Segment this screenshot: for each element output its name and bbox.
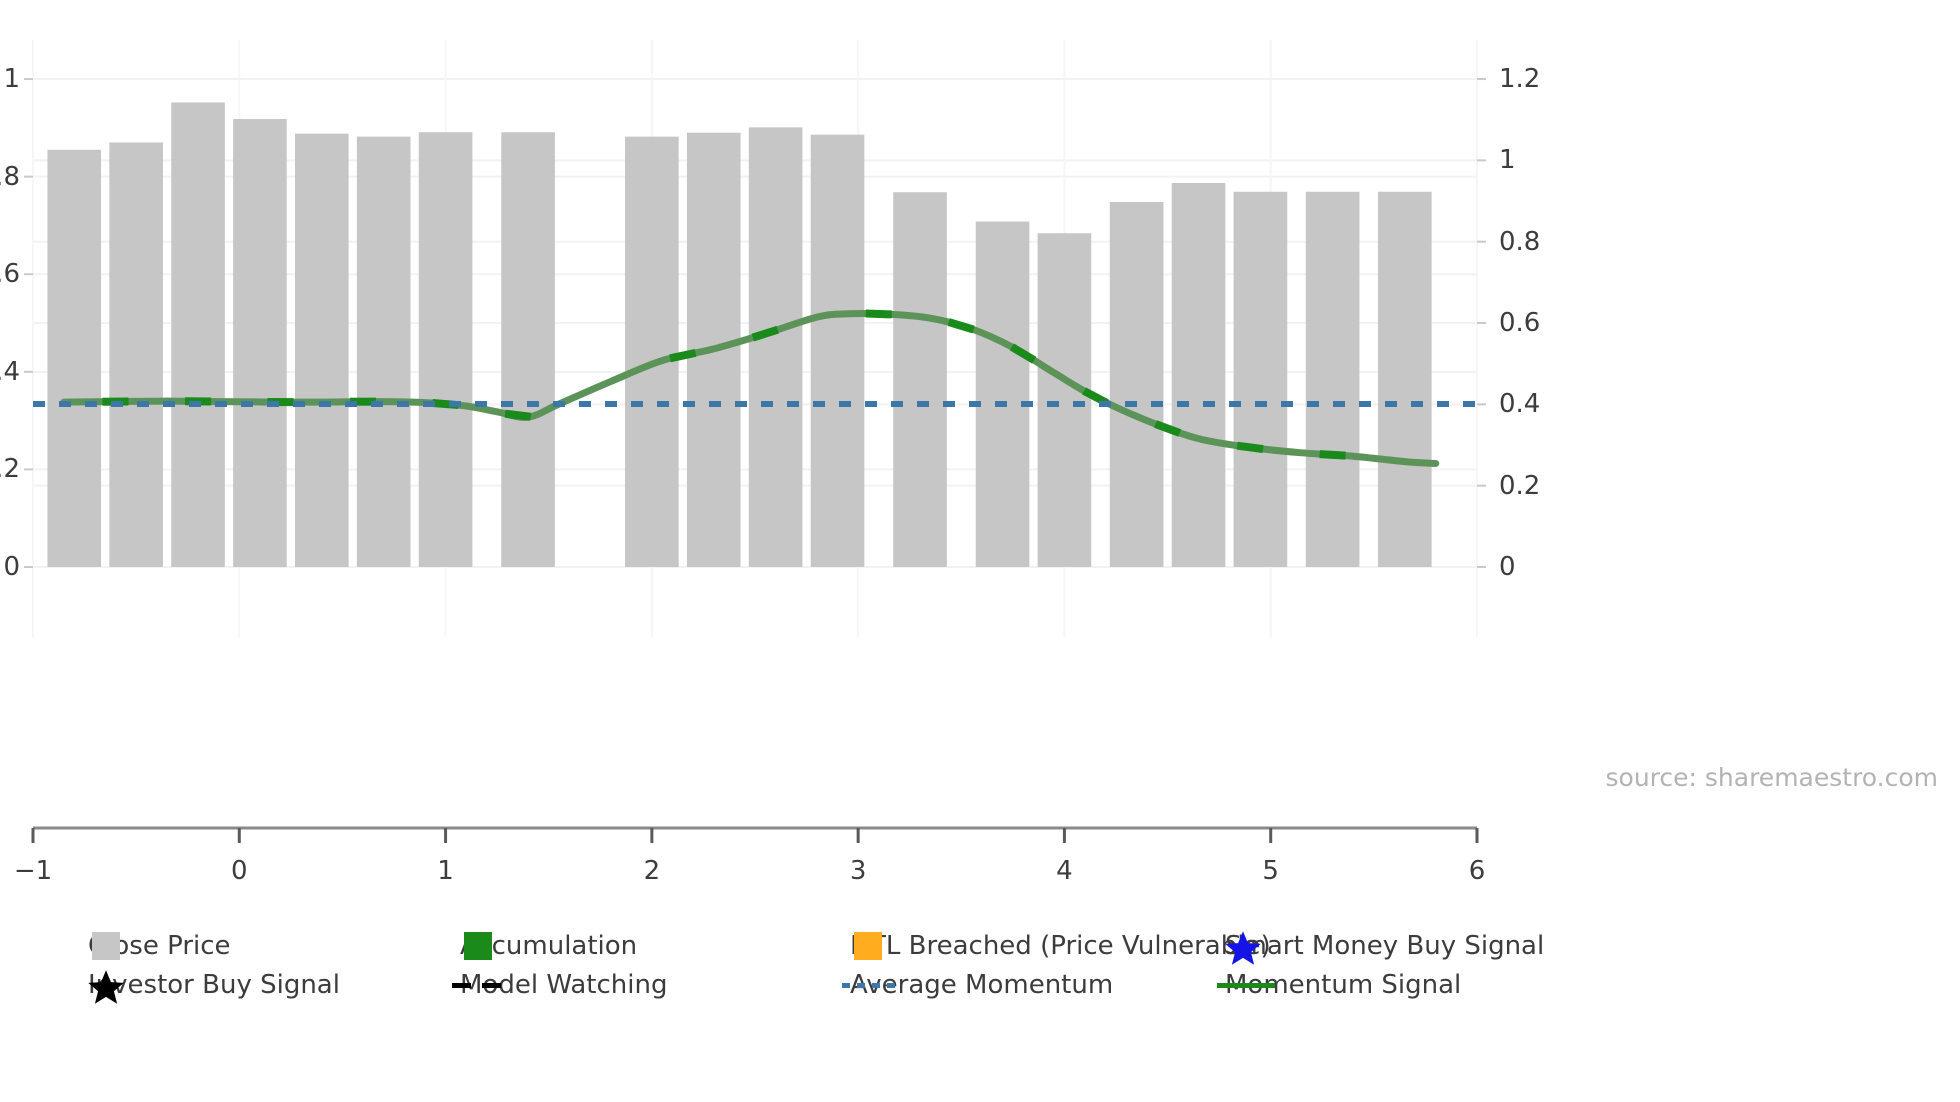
y-right-tick-6: 1.2 <box>1499 66 1589 92</box>
y-right-tick-2: 0.4 <box>1499 391 1589 417</box>
x-tick-6: 5 <box>1226 858 1316 884</box>
y-right-tick-3: 0.6 <box>1499 310 1589 336</box>
legend-dtl-breached-label: DTL Breached (Price Vulnerable) <box>840 933 1271 959</box>
legend-smart-money-label: Smart Money Buy Signal <box>1215 933 1544 959</box>
square-swatch-icon <box>854 932 882 960</box>
legend-accumulation[interactable]: Accumulation <box>450 925 637 967</box>
legend-average-momentum[interactable]: Average Momentum <box>840 964 1113 1006</box>
y-right-tick-4: 0.8 <box>1499 229 1589 255</box>
square-swatch-icon <box>464 932 492 960</box>
y-left-tick-3: 0.6 <box>0 261 20 287</box>
x-tick-7: 6 <box>1432 858 1522 884</box>
legend-momentum-signal[interactable]: Momentum Signal <box>1215 964 1461 1006</box>
y-right-tick-5: 1 <box>1499 147 1589 173</box>
legend-close-price[interactable]: Close Price <box>78 925 231 967</box>
legend-smart-money[interactable]: Smart Money Buy Signal <box>1215 925 1544 967</box>
y-right-tick-0: 0 <box>1499 554 1589 580</box>
x-tick-1: 0 <box>194 858 284 884</box>
chart-legend: Close PriceAccumulationDTL Breached (Pri… <box>0 925 1960 1045</box>
y-right-tick-1: 0.2 <box>1499 473 1589 499</box>
x-tick-4: 3 <box>813 858 903 884</box>
legend-investor-buy[interactable]: Investor Buy Signal <box>78 964 340 1006</box>
y-left-tick-4: 0.8 <box>0 164 20 190</box>
solid-line-icon <box>1217 983 1275 988</box>
y-left-tick-0: 0 <box>0 554 20 580</box>
legend-model-watching[interactable]: Model Watching <box>450 964 667 1006</box>
x-tick-3: 2 <box>607 858 697 884</box>
y-left-tick-1: 0.2 <box>0 456 20 482</box>
star-icon <box>1223 929 1263 967</box>
bar-series <box>47 102 1431 567</box>
x-tick-2: 1 <box>401 858 491 884</box>
legend-row-2: Investor Buy SignalModel WatchingAverage… <box>0 964 1960 1006</box>
momentum-chart: 00.20.40.60.81 00.20.40.60.811.2 −101234… <box>0 0 1960 1102</box>
legend-row-1: Close PriceAccumulationDTL Breached (Pri… <box>0 925 1960 967</box>
y-left-tick-5: 1 <box>0 66 20 92</box>
star-icon <box>86 968 126 1006</box>
square-swatch-icon <box>92 932 120 960</box>
dashed-line-icon <box>452 983 510 988</box>
source-attribution: source: sharemaestro.com <box>1606 765 1939 790</box>
x-tick-5: 4 <box>1019 858 1109 884</box>
legend-dtl-breached[interactable]: DTL Breached (Price Vulnerable) <box>840 925 1271 967</box>
x-tick-0: −1 <box>0 858 78 884</box>
dotted-line-icon <box>842 983 900 988</box>
y-left-tick-2: 0.4 <box>0 359 20 385</box>
